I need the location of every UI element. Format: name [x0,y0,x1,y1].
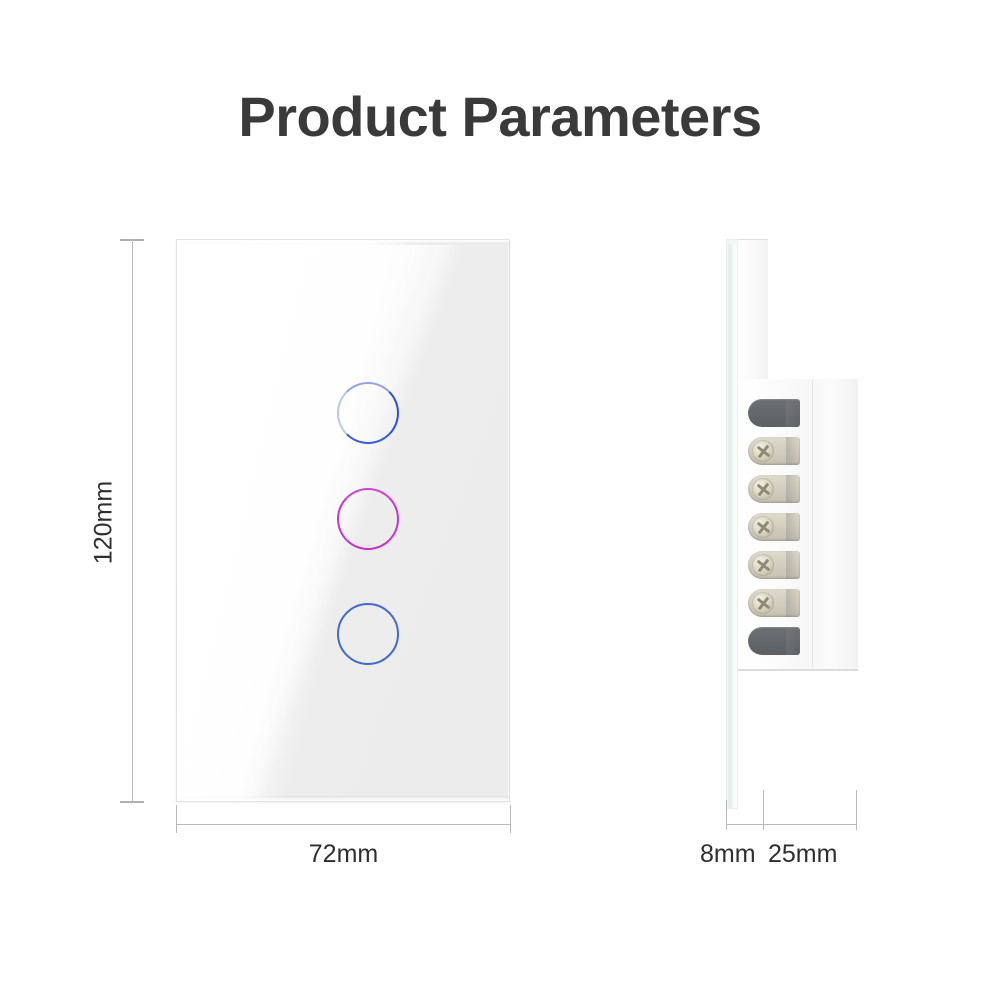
width-dimension-left-extension [176,805,177,833]
terminal-slot-shadow [786,551,800,579]
terminal-slot-shadow [786,437,800,465]
side-body-seam-line [812,379,813,671]
side-view [726,239,858,809]
terminal-slot-shadow [786,589,800,617]
screw-head-icon [752,554,774,576]
terminal-slot-empty-bottom[interactable] [748,627,800,655]
terminal-slot-shadow [786,399,800,427]
screw-head-icon [752,440,774,462]
terminal-screw-2[interactable] [748,475,800,503]
terminal-slot-shadow [786,475,800,503]
depth-dimension-extension-glass-left [726,800,727,830]
terminal-slot-empty-top[interactable] [748,399,800,427]
front-view [176,239,510,802]
terminal-slot-shadow [786,513,800,541]
height-dimension-line [132,239,133,802]
panel-bevel-top [177,240,509,245]
screw-head-icon [752,516,774,538]
body-depth-label: 25mm [768,840,837,869]
side-body-upper-flange [738,239,768,399]
glass-thickness-label: 8mm [700,840,756,869]
page-title: Product Parameters [0,84,1000,149]
screw-head-icon [752,592,774,614]
side-glass-edge [726,239,738,809]
terminal-block [748,399,812,654]
terminal-screw-5[interactable] [748,589,800,617]
terminal-screw-3[interactable] [748,513,800,541]
width-dimension-right-extension [510,805,511,833]
depth-dimension-line [726,824,857,825]
width-dimension-label: 72mm [176,840,511,869]
panel-bevel-left [177,240,181,801]
terminal-slot-shadow [786,627,800,655]
touch-button-key1[interactable] [337,382,399,444]
panel-bevel-bottom [177,796,509,801]
height-dimension-label: 120mm [90,463,119,583]
screw-head-icon [752,478,774,500]
glass-panel [176,239,510,802]
panel-bevel-right [505,240,509,801]
terminal-screw-4[interactable] [748,551,800,579]
touch-button-key3[interactable] [337,603,399,665]
touch-button-key2[interactable] [337,488,399,550]
width-dimension-line [176,824,511,825]
terminal-screw-1[interactable] [748,437,800,465]
